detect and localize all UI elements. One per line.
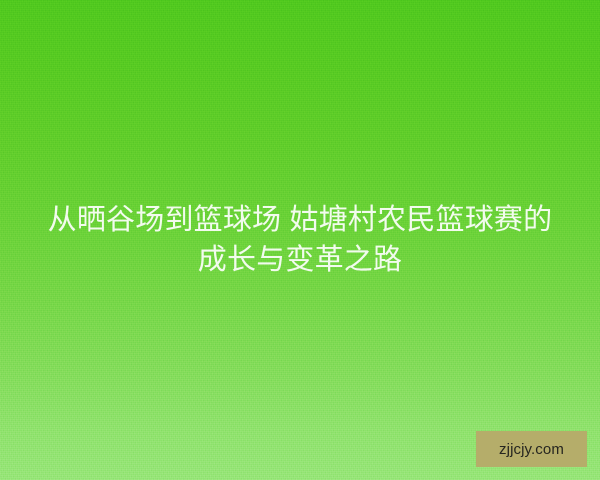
watermark-label: zjjcjy.com (499, 442, 564, 457)
watermark-badge: zjjcjy.com (476, 431, 587, 467)
banner-title: 从晒谷场到篮球场 姑塘村农民篮球赛的成长与变革之路 (34, 200, 566, 280)
banner-image: 从晒谷场到篮球场 姑塘村农民篮球赛的成长与变革之路 zjjcjy.com (0, 0, 600, 480)
